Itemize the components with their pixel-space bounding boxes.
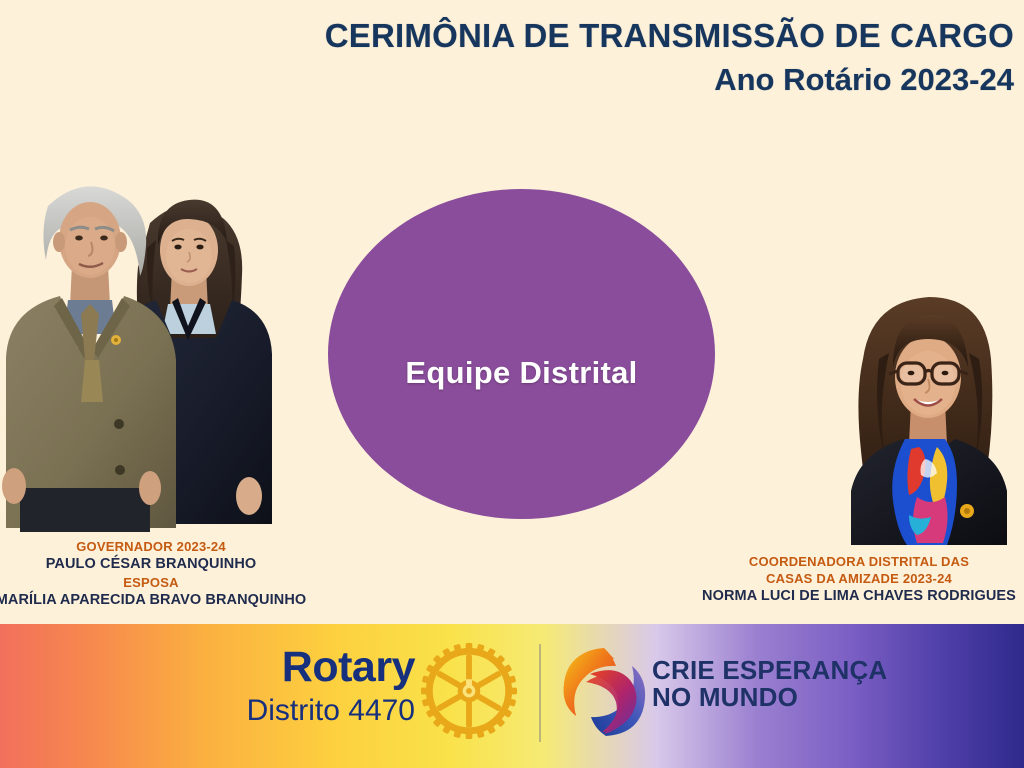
- footer-divider: [539, 644, 541, 742]
- title-line-1: CERIMÔNIA DE TRANSMISSÃO DE CARGO: [294, 18, 1014, 55]
- spouse-name: MARÍLIA APARECIDA BRAVO BRANQUINHO: [0, 591, 316, 610]
- coordinator-name: NORMA LUCI DE LIMA CHAVES RODRIGUES: [694, 587, 1024, 606]
- rotary-district-label: Distrito 4470: [225, 696, 415, 726]
- coordinator-role-label-line-1: COORDENADORA DISTRITAL DAS: [694, 553, 1024, 570]
- photo-coordinator: [833, 283, 1024, 545]
- coordinator-portrait-illustration: [833, 283, 1024, 545]
- rotary-wordmark: Rotary: [225, 646, 415, 689]
- rotary-wordmark-block: Rotary Distrito 4470: [225, 646, 415, 726]
- governor-couple-illustration: [0, 128, 280, 532]
- governor-name: PAULO CÉSAR BRANQUINHO: [0, 555, 316, 574]
- equipe-distrital-ellipse: Equipe Distrital: [328, 189, 715, 519]
- caption-coordinator: COORDENADORA DISTRITAL DAS CASAS DA AMIZ…: [694, 553, 1024, 606]
- presentation-slide: CERIMÔNIA DE TRANSMISSÃO DE CARGO Ano Ro…: [0, 0, 1024, 768]
- theme-line-1: CRIE ESPERANÇA: [652, 657, 887, 684]
- coordinator-role-label-line-2: CASAS DA AMIZADE 2023-24: [694, 570, 1024, 587]
- governor-role-label: GOVERNADOR 2023-24: [0, 538, 316, 555]
- crie-esperanca-swirl-svg: [560, 644, 646, 740]
- spouse-role-label: ESPOSA: [0, 574, 316, 591]
- equipe-distrital-label: Equipe Distrital: [405, 355, 637, 391]
- slide-title: CERIMÔNIA DE TRANSMISSÃO DE CARGO Ano Ro…: [294, 18, 1014, 98]
- rotary-wheel-svg: [420, 642, 518, 740]
- theme-line-2: NO MUNDO: [652, 684, 887, 711]
- theme-text-block: CRIE ESPERANÇA NO MUNDO: [652, 657, 887, 712]
- rotary-wheel-icon: [420, 642, 518, 740]
- title-line-2: Ano Rotário 2023-24: [294, 63, 1014, 98]
- crie-esperanca-swirl-icon: [560, 644, 646, 740]
- photo-governor-couple: [0, 128, 280, 532]
- caption-governor: GOVERNADOR 2023-24 PAULO CÉSAR BRANQUINH…: [0, 538, 316, 611]
